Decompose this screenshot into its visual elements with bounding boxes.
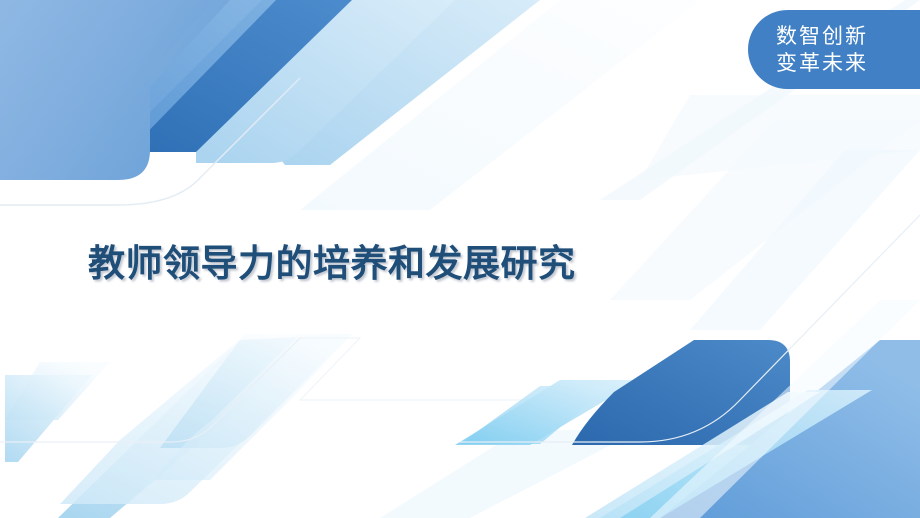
bottom-left-shapes <box>5 334 352 518</box>
br-sky-wedge <box>460 386 610 444</box>
bl-pale-chip <box>5 362 110 420</box>
top-left-block-body <box>0 0 214 180</box>
br-sky-stripe <box>600 390 872 518</box>
bl-light-chip <box>5 375 92 462</box>
top-band-medium <box>60 0 276 150</box>
br-sky-chip <box>455 380 640 445</box>
top-band-dark <box>110 0 352 152</box>
top-left-block <box>0 0 230 179</box>
br-pale-stripe <box>380 430 640 518</box>
bl-sweep-wide <box>155 334 352 480</box>
br-pale-stripe2 <box>585 392 820 518</box>
slide-title: 教师领导力的培养和发展研究 <box>88 233 576 287</box>
top-band-light <box>265 0 540 165</box>
corner-badge-line-2: 变革未来 <box>776 50 868 77</box>
top-left-hairline <box>0 78 300 205</box>
corner-badge: 数智创新 变革未来 <box>748 10 920 89</box>
bl-stripe <box>58 340 320 518</box>
br-faint-long <box>650 300 920 518</box>
bottom-right-shapes <box>380 300 920 518</box>
bl-wedge <box>60 334 352 504</box>
corner-badge-line-1: 数智创新 <box>776 23 868 50</box>
slide-canvas: 数智创新 变革未来 教师领导力的培养和发展研究 <box>0 0 920 518</box>
br-dark-parallelogram <box>572 340 790 445</box>
bottom-shelf-hairline <box>0 338 300 442</box>
top-band-light-rounded <box>196 0 455 163</box>
br-big-triangle <box>660 340 920 518</box>
bl-sweep <box>160 334 352 448</box>
bottom-shelf-hairline-right <box>300 338 920 400</box>
